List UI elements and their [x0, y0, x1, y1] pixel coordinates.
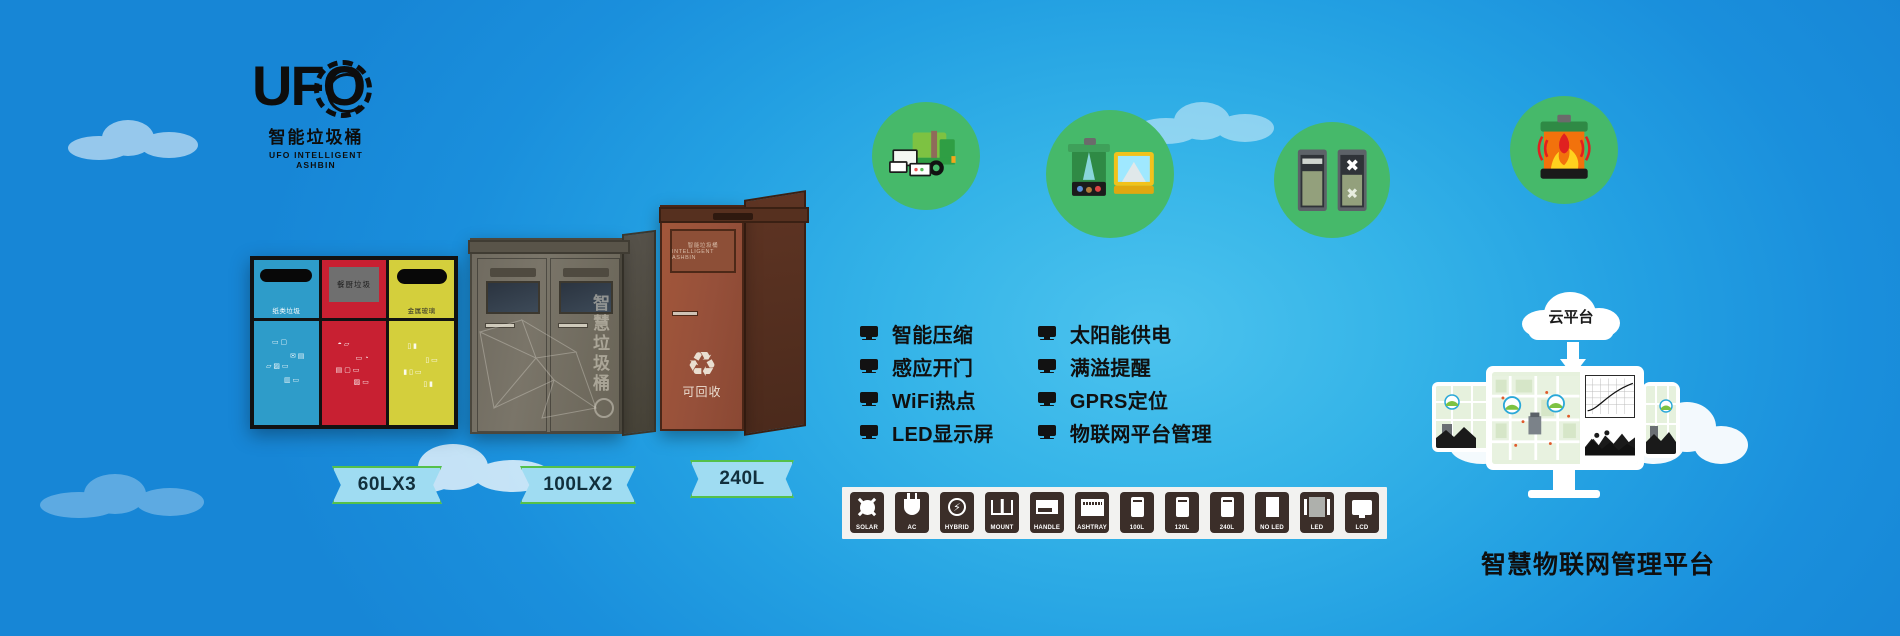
bin-front-label: 可回收 [682, 383, 721, 400]
iot-platform-illustration: 云平台 [1448, 290, 1748, 540]
promo-banner: UFO 智能垃圾桶 UFO INTELLIGENT ASHBIN 纸类垃圾 ▭ … [0, 0, 1900, 636]
bin-panel-label: 金属玻璃 [408, 305, 436, 315]
capacity-badge-60lx3: 60LX3 [332, 466, 442, 504]
feature-label: 满溢提醒 [1070, 352, 1151, 381]
monitor-map-panel [1492, 372, 1580, 464]
line-chart [1585, 375, 1635, 418]
hybrid-bolt-icon: ⚡ [940, 492, 974, 522]
bin-panel-paper: 纸类垃圾 ▭ ▢ ✉ ▤ ▱ ▨ ▭ ▥ ▭ [254, 260, 319, 425]
feature-item: LED显示屏 [860, 421, 994, 443]
desktop-monitor [1486, 366, 1644, 470]
fire-alarm-bin-icon [1522, 108, 1606, 192]
ufo-ring-icon [314, 60, 372, 118]
brown-recycle-bin: 智能垃圾桶 INTELLIGENT ASHBIN ♻ 可回收 [660, 193, 812, 441]
three-colour-bin-bank: 纸类垃圾 ▭ ▢ ✉ ▤ ▱ ▨ ▭ ▥ ▭ 餐厨垃圾 ◓ ▱ ▭ ◔ ▤ ▢ … [250, 256, 458, 429]
feature-circle-truck [872, 102, 980, 210]
monitor-icon [1038, 392, 1056, 406]
feature-label: GPRS定位 [1070, 385, 1168, 414]
feature-circle-compress [1046, 110, 1174, 238]
feature-list: 智能压缩 感应开门 WiFi热点 LED显示屏 太阳能供电 满溢提醒 [860, 322, 1320, 443]
bin-side-text: 智慧垃圾桶 [595, 294, 612, 394]
wall-mount-icon [985, 492, 1019, 522]
bin-panel-metal-glass: 金属玻璃 ▯ ▮ ▯ ▭ ▮ ▯ ▭ ▯ ▮ [389, 260, 454, 425]
garbage-truck-with-devices-icon [884, 114, 968, 198]
recycle-icon: ♻ [682, 347, 721, 383]
spec-icon-lcd: LCD [1344, 492, 1380, 534]
capacity-label: 240L [719, 468, 764, 490]
svg-text:✖: ✖ [1345, 157, 1359, 175]
capacity-label: 100LX2 [543, 474, 613, 496]
logo-wordmark: UFO [252, 58, 380, 122]
spec-icon-label: 100L [1120, 522, 1154, 533]
two-bins-fill-level-icon: ✖ ✖ [1287, 135, 1377, 225]
bin-window-line2: INTELLIGENT ASHBIN [672, 249, 734, 261]
feature-item: 满溢提醒 [1038, 355, 1212, 377]
bin-240l-icon [1210, 492, 1244, 522]
tablet-screen [1436, 386, 1488, 448]
monitor-icon [860, 359, 878, 373]
feature-label: 太阳能供电 [1070, 319, 1172, 348]
spec-icon-label: 240L [1210, 522, 1244, 533]
lcd-icon [1345, 492, 1379, 522]
spec-icon-240l: 240L [1209, 492, 1245, 534]
feature-circle-fire [1510, 96, 1618, 204]
feature-label: 感应开门 [892, 352, 973, 381]
handle-icon [1030, 492, 1064, 522]
cloud-platform-badge: 云平台 [1522, 290, 1620, 340]
led-icon [1300, 492, 1334, 522]
no-led-icon [1255, 492, 1289, 522]
monitor-icon [1038, 425, 1056, 439]
background-cloud [60, 116, 210, 162]
tablet-device [1432, 382, 1492, 452]
ashtray-icon [1075, 492, 1109, 522]
spec-icon-label: HANDLE [1030, 522, 1064, 533]
feature-label: 物联网平台管理 [1070, 418, 1212, 447]
spec-icon-label: NO LED [1255, 522, 1289, 533]
bin-panel-kitchen: 餐厨垃圾 ◓ ▱ ▭ ◔ ▤ ▢ ▭ ▨ ▭ [322, 260, 387, 425]
feature-label: 智能压缩 [892, 319, 973, 348]
capacity-label: 60LX3 [358, 474, 416, 496]
phone-device [1642, 382, 1680, 458]
platform-title: 智慧物联网管理平台 [1448, 545, 1748, 581]
bin-100l-icon [1120, 492, 1154, 522]
spec-icon-mount: MOUNT [984, 492, 1020, 534]
background-cloud [40, 470, 210, 520]
bin-brand-icon [594, 398, 614, 418]
spec-icon-label: SOLAR [850, 522, 884, 533]
cloud-platform-label: 云平台 [1522, 306, 1620, 327]
monitor-chart-panel [1580, 372, 1638, 464]
monitor-icon [860, 425, 878, 439]
logo-en-name: UFO INTELLIGENT ASHBIN [252, 150, 380, 170]
capacity-badge-100lx2: 100LX2 [520, 466, 636, 504]
bin-panel-label: 餐厨垃圾 [337, 279, 371, 290]
spec-icon-strip: SOLAR AC ⚡ HYBRID MOUNT HANDLE ASHTRAY 1… [842, 487, 1387, 539]
spec-icon-led: LED [1299, 492, 1335, 534]
monitor-icon [860, 392, 878, 406]
capacity-badge-240l: 240L [690, 460, 794, 498]
feature-label: WiFi热点 [892, 385, 976, 414]
phone-screen [1646, 386, 1676, 454]
feature-item: WiFi热点 [860, 388, 994, 410]
spec-icon-label: HYBRID [940, 522, 974, 533]
spec-icon-hybrid: ⚡ HYBRID [939, 492, 975, 534]
area-chart [1585, 421, 1635, 462]
spec-icon-no-led: NO LED [1254, 492, 1290, 534]
monitor-icon [1038, 359, 1056, 373]
monitor-neck [1553, 470, 1575, 492]
ac-plug-icon [895, 492, 929, 522]
bin-window-line1: 智能垃圾桶 [688, 241, 719, 249]
feature-circle-fullness: ✖ ✖ [1274, 122, 1390, 238]
spec-icon-100l: 100L [1119, 492, 1155, 534]
feature-column-left: 智能压缩 感应开门 WiFi热点 LED显示屏 [860, 322, 994, 443]
spec-icon-label: MOUNT [985, 522, 1019, 533]
city-map [1492, 372, 1580, 464]
svg-text:✖: ✖ [1346, 186, 1358, 202]
spec-icon-label: 120L [1165, 522, 1199, 533]
brand-logo: UFO 智能垃圾桶 UFO INTELLIGENT ASHBIN [252, 58, 380, 150]
feature-item: 太阳能供电 [1038, 322, 1212, 344]
feature-label: LED显示屏 [892, 418, 994, 447]
monitor-base [1528, 490, 1600, 498]
bin-panel-label: 纸类垃圾 [272, 305, 300, 315]
spec-icon-solar: SOLAR [849, 492, 885, 534]
feature-item: 智能压缩 [860, 322, 994, 344]
spec-icon-label: LED [1300, 522, 1334, 533]
spec-icon-ac: AC [894, 492, 930, 534]
logo-cn-name: 智能垃圾桶 [252, 123, 380, 148]
monitor-icon [1038, 326, 1056, 340]
feature-column-right: 太阳能供电 满溢提醒 GPRS定位 物联网平台管理 [1038, 322, 1212, 443]
bin-compression-icon [1060, 124, 1160, 224]
feature-item: GPRS定位 [1038, 388, 1212, 410]
bin-120l-icon [1165, 492, 1199, 522]
spec-icon-handle: HANDLE [1029, 492, 1065, 534]
feature-item: 物联网平台管理 [1038, 421, 1212, 443]
spec-icon-label: LCD [1345, 522, 1379, 533]
spec-icon-label: ASHTRAY [1075, 522, 1109, 533]
solar-sun-icon [850, 492, 884, 522]
monitor-icon [860, 326, 878, 340]
grey-smart-bin: 智慧垃圾桶 [470, 228, 660, 440]
spec-icon-ashtray: ASHTRAY [1074, 492, 1110, 534]
spec-icon-120l: 120L [1164, 492, 1200, 534]
spec-icon-label: AC [895, 522, 929, 533]
feature-item: 感应开门 [860, 355, 994, 377]
